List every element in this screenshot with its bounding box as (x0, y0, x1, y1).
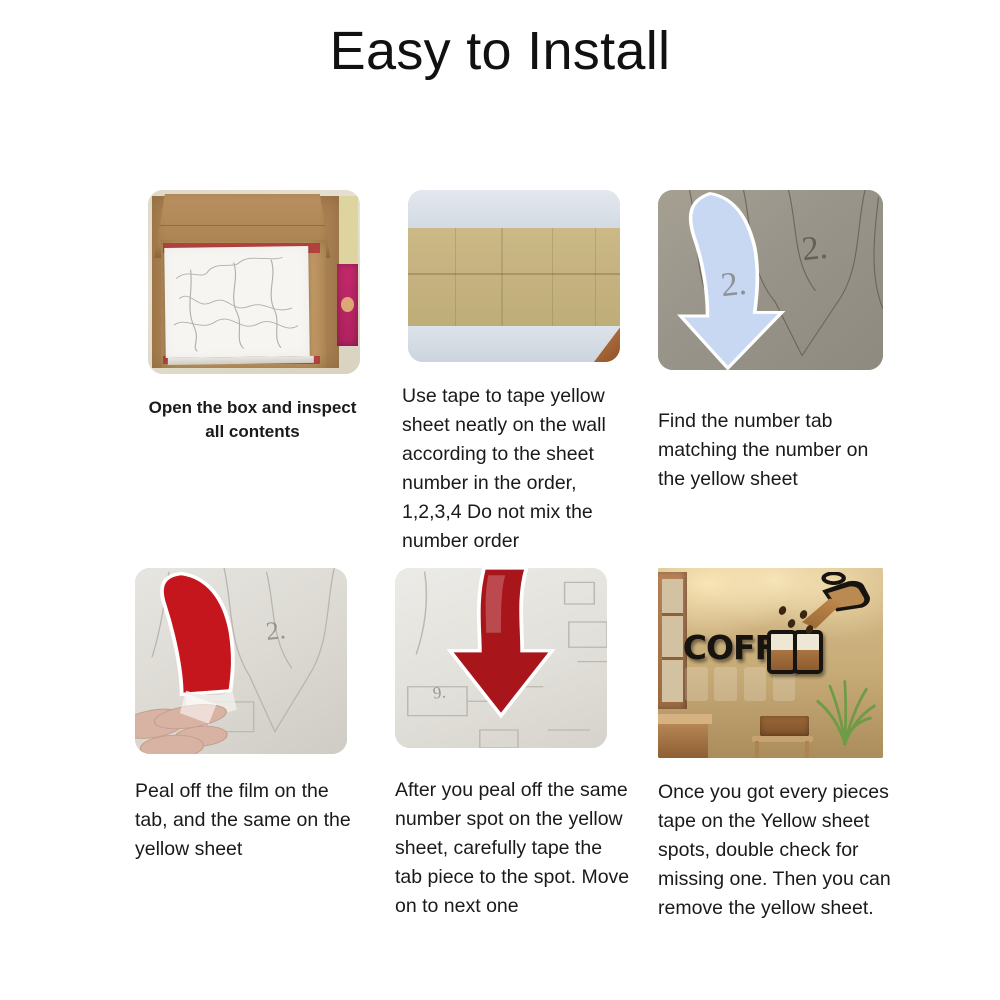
coffee-decal-text: COFF (683, 631, 776, 664)
kraft-seam (595, 228, 596, 326)
red-arrow-icon (395, 568, 607, 748)
box-scene (148, 190, 360, 374)
bench-leg (805, 741, 809, 758)
wall-above (408, 190, 620, 228)
step-caption-2: Use tape to tape yellow sheet neatly on … (402, 382, 630, 556)
step-panel-6: COFF (648, 568, 898, 923)
steps-grid: Open the box and inspect all contents Us… (0, 190, 1000, 948)
decal-shadow (714, 667, 737, 701)
step-caption-6: Once you got every pieces tape on the Ye… (658, 778, 900, 923)
kraft-template-sheet (408, 228, 620, 326)
shelf-line (662, 657, 683, 660)
step-caption-5: After you peal off the same number spot … (395, 776, 631, 921)
step-caption-1: Open the box and inspect all contents (140, 396, 365, 444)
cafe-scene: COFF (658, 568, 883, 758)
decal-shadow (744, 667, 767, 701)
step-panel-2: Use tape to tape yellow sheet neatly on … (388, 190, 638, 556)
peel-scene: 2. (135, 568, 347, 754)
bench-leg (755, 741, 759, 758)
steps-row-2: 2. Peal o (0, 568, 1000, 948)
coffee-letter-e2 (793, 630, 823, 674)
kraft-seam (455, 228, 456, 326)
step-caption-4: Peal off the film on the tab, and the sa… (135, 777, 363, 864)
pink-package (337, 264, 358, 347)
bench (748, 716, 816, 758)
page-title: Easy to Install (0, 22, 1000, 81)
pencil-number-mark: 2. (719, 264, 748, 304)
decal-outline-drawing (164, 246, 310, 358)
decal-shadow (685, 667, 708, 701)
steps-row-1: Open the box and inspect all contents Us… (0, 190, 1000, 568)
tape-scene (408, 190, 620, 362)
shelf-line (662, 613, 683, 616)
plant-icon (811, 671, 879, 747)
finished-wall-photo: COFF (658, 568, 883, 758)
hand-icon (135, 672, 254, 754)
bench-back (760, 716, 809, 736)
step-caption-3: Find the number tab matching the number … (658, 407, 894, 494)
taped-sheet-photo (408, 190, 620, 362)
sheet-scene: 2. 2. (658, 190, 883, 370)
shelf-inner (662, 579, 683, 702)
step-panel-4: 2. Peal o (128, 568, 378, 864)
arrow-scene: 9. (395, 568, 607, 748)
kraft-seam (552, 228, 553, 326)
blue-arrow-icon (658, 190, 883, 370)
step-panel-3: 2. 2. Find the number tab matching the n… (648, 190, 898, 494)
counter-top (658, 714, 712, 724)
step-panel-1: Open the box and inspect all contents (128, 190, 378, 444)
wall-below (408, 326, 620, 362)
peel-film-photo: 2. (135, 568, 347, 754)
step-panel-5: 9. After you peal off the same number sp… (388, 568, 638, 921)
find-number-tab-photo: 2. 2. (658, 190, 883, 370)
tape-tab-photo: 9. (395, 568, 607, 748)
open-box-photo (148, 190, 360, 374)
bench-seat (752, 736, 813, 742)
white-sheet-stack (164, 246, 310, 358)
